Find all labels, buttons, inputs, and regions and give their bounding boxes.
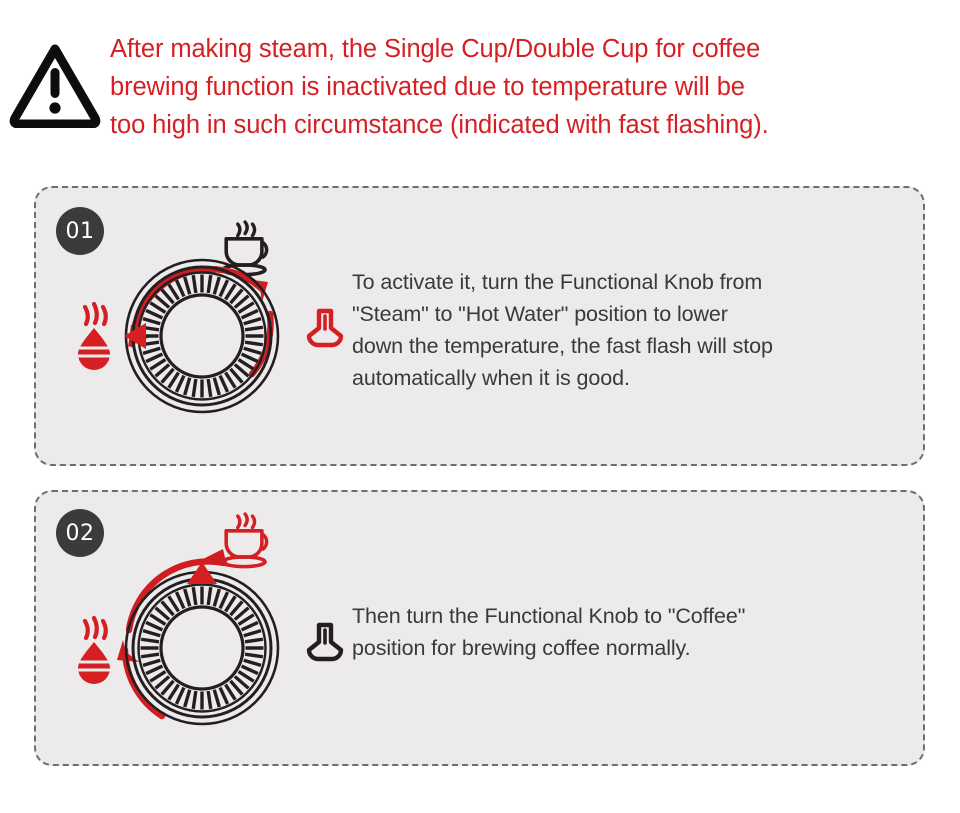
functional-knob[interactable] — [126, 260, 278, 412]
hot-water-icon — [309, 310, 341, 345]
warning-text: After making steam, the Single Cup/Doubl… — [110, 28, 769, 144]
coffee-cup-icon — [223, 514, 267, 567]
step-card-02: 02 — [34, 490, 925, 766]
hot-water-icon — [309, 625, 341, 659]
step-description: To activate it, turn the Functional Knob… — [352, 266, 773, 394]
functional-knob-diagram-02 — [54, 500, 354, 764]
functional-knob[interactable] — [126, 572, 278, 724]
step-description: Then turn the Functional Knob to "Coffee… — [352, 600, 745, 664]
functional-knob-diagram-01 — [54, 196, 354, 460]
coffee-cup-icon — [223, 222, 267, 275]
step-card-01: 01 — [34, 186, 925, 466]
warning-triangle-icon — [0, 28, 110, 128]
warning-banner: After making steam, the Single Cup/Doubl… — [0, 28, 960, 144]
steam-icon — [78, 618, 110, 684]
page-bottom-spacer — [0, 766, 960, 813]
steam-icon — [78, 304, 110, 370]
